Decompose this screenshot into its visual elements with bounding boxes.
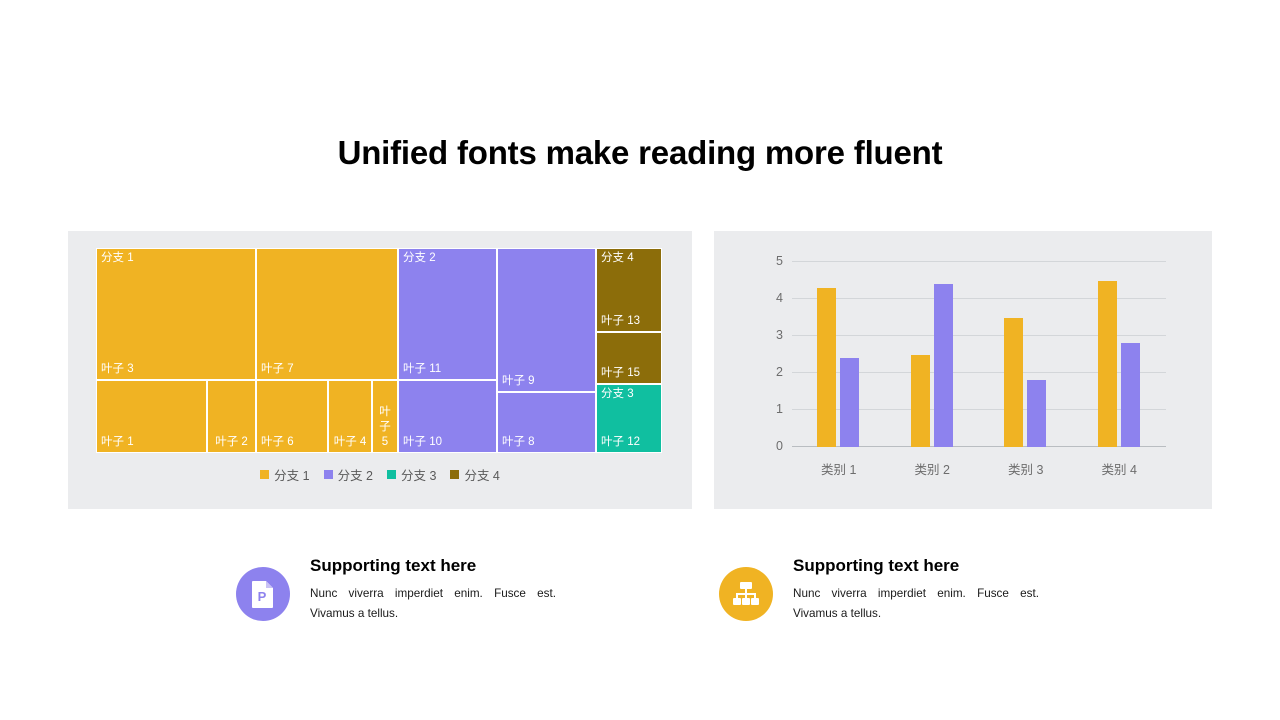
treemap-cell[interactable]: 叶子 1 (96, 380, 207, 453)
treemap-cell-branch-label: 分支 4 (601, 251, 634, 266)
legend-item[interactable]: 分支 2 (324, 465, 373, 484)
treemap-cell-branch-label: 分支 3 (601, 387, 634, 402)
bar-group: 类别 1 (792, 262, 886, 447)
treemap-column: 分支 2叶子 11叶子 10 (398, 248, 497, 453)
treemap-cell[interactable]: 分支 1叶子 3 (96, 248, 256, 380)
bar[interactable] (1004, 318, 1023, 448)
feature-title: Supporting text here (310, 554, 556, 578)
treemap-panel: 分支 1叶子 3叶子 1叶子 2叶子 7叶子 6叶子 4叶子 5分支 2叶子 1… (68, 231, 692, 509)
treemap-cell[interactable]: 叶子 9 (497, 248, 596, 392)
treemap-cell-leaf-label: 叶子 4 (331, 435, 369, 450)
treemap-cell-leaf-label: 叶子 5 (375, 405, 395, 450)
treemap-cell-leaf-label: 叶子 6 (261, 435, 294, 450)
legend-item[interactable]: 分支 1 (260, 465, 309, 484)
treemap-cell[interactable]: 叶子 8 (497, 392, 596, 453)
legend-label: 分支 1 (274, 465, 309, 484)
bar[interactable] (840, 358, 859, 447)
treemap-cell[interactable]: 叶子 4 (328, 380, 372, 453)
bar-group: 类别 3 (979, 262, 1073, 447)
bar[interactable] (1121, 343, 1140, 447)
legend-label: 分支 2 (338, 465, 373, 484)
treemap-cell-leaf-label: 叶子 11 (403, 362, 441, 377)
treemap-cell-leaf-label: 叶子 13 (601, 314, 640, 329)
x-axis-tick-label: 类别 4 (1073, 459, 1167, 478)
legend-swatch-icon (387, 470, 396, 479)
bar-group: 类别 4 (1073, 262, 1167, 447)
treemap-chart: 分支 1叶子 3叶子 1叶子 2叶子 7叶子 6叶子 4叶子 5分支 2叶子 1… (96, 248, 662, 453)
page-title: Unified fonts make reading more fluent (0, 131, 1280, 175)
y-axis-tick-label: 3 (776, 328, 783, 342)
legend-swatch-icon (450, 470, 459, 479)
bar[interactable] (911, 355, 930, 448)
y-axis-tick-label: 0 (776, 439, 783, 453)
treemap-column: 分支 4叶子 13叶子 15分支 3叶子 12 (596, 248, 662, 453)
x-axis-tick-label: 类别 2 (886, 459, 980, 478)
treemap-column: 叶子 9叶子 8 (497, 248, 596, 453)
bar-group: 类别 2 (886, 262, 980, 447)
treemap-cell[interactable]: 叶子 7 (256, 248, 398, 380)
feature-body-1: Supporting text here Nunc viverra imperd… (310, 554, 556, 624)
treemap-cell[interactable]: 叶子 5 (372, 380, 398, 453)
treemap-cell-branch-label: 分支 1 (101, 251, 134, 266)
feature-body-2: Supporting text here Nunc viverra imperd… (793, 554, 1039, 624)
legend-swatch-icon (324, 470, 333, 479)
y-axis-tick-label: 5 (776, 254, 783, 268)
feature-block-2: Supporting text here Nunc viverra imperd… (719, 554, 1039, 624)
treemap-cell[interactable]: 叶子 15 (596, 332, 662, 384)
treemap-cell-branch-label: 分支 2 (403, 251, 436, 266)
svg-text:P: P (258, 589, 267, 604)
treemap-column: 叶子 7叶子 6叶子 4叶子 5 (256, 248, 398, 453)
bar-chart-panel: 012345类别 1类别 2类别 3类别 4 (714, 231, 1212, 509)
treemap-cell[interactable]: 叶子 6 (256, 380, 328, 453)
treemap-cell[interactable]: 分支 2叶子 11 (398, 248, 497, 380)
bar[interactable] (1027, 380, 1046, 447)
y-axis-tick-label: 2 (776, 365, 783, 379)
treemap-cell-leaf-label: 叶子 3 (101, 362, 134, 377)
legend-label: 分支 4 (464, 465, 499, 484)
treemap-cell-leaf-label: 叶子 1 (101, 435, 134, 450)
treemap-cell-leaf-label: 叶子 15 (601, 366, 640, 381)
x-axis-tick-label: 类别 3 (979, 459, 1073, 478)
document-p-icon: P (236, 567, 290, 621)
feature-title: Supporting text here (793, 554, 1039, 578)
treemap-cell-leaf-label: 叶子 9 (502, 374, 535, 389)
treemap-cell[interactable]: 叶子 10 (398, 380, 497, 453)
bar[interactable] (817, 288, 836, 447)
treemap-cell-leaf-label: 叶子 10 (403, 435, 442, 450)
treemap-legend: 分支 1分支 2分支 3分支 4 (68, 465, 692, 484)
bar-chart-plot-area: 012345类别 1类别 2类别 3类别 4 (792, 262, 1166, 447)
legend-item[interactable]: 分支 3 (387, 465, 436, 484)
legend-item[interactable]: 分支 4 (450, 465, 499, 484)
feature-block-1: P Supporting text here Nunc viverra impe… (236, 554, 556, 624)
treemap-cell[interactable]: 分支 3叶子 12 (596, 384, 662, 453)
treemap-cell[interactable]: 分支 4叶子 13 (596, 248, 662, 332)
y-axis-tick-label: 4 (776, 291, 783, 305)
y-axis-tick-label: 1 (776, 402, 783, 416)
legend-label: 分支 3 (401, 465, 436, 484)
legend-swatch-icon (260, 470, 269, 479)
treemap-column: 分支 1叶子 3叶子 1叶子 2 (96, 248, 256, 453)
bar[interactable] (934, 284, 953, 447)
feature-description: Nunc viverra imperdiet enim. Fusce est. … (793, 584, 1039, 624)
bar[interactable] (1098, 281, 1117, 448)
treemap-cell-leaf-label: 叶子 7 (261, 362, 294, 377)
treemap-cell-leaf-label: 叶子 2 (210, 435, 253, 450)
treemap-cell[interactable]: 叶子 2 (207, 380, 256, 453)
treemap-cell-leaf-label: 叶子 12 (601, 435, 640, 450)
feature-description: Nunc viverra imperdiet enim. Fusce est. … (310, 584, 556, 624)
x-axis-tick-label: 类别 1 (792, 459, 886, 478)
treemap-cell-leaf-label: 叶子 8 (502, 435, 535, 450)
org-chart-icon (719, 567, 773, 621)
